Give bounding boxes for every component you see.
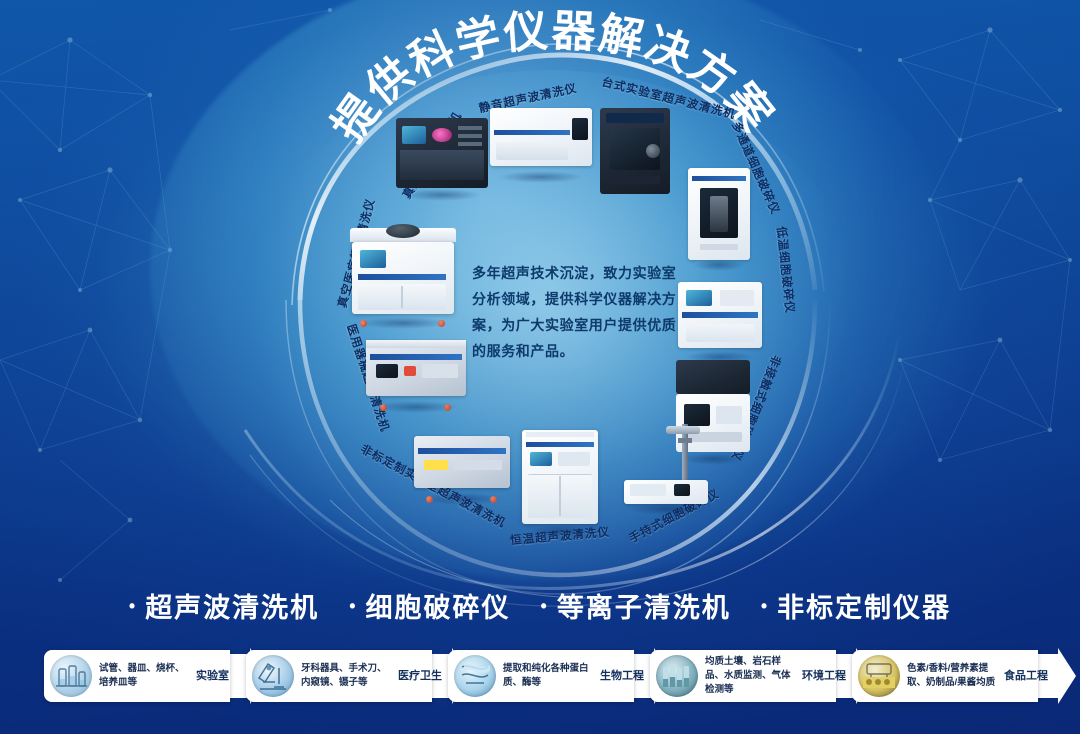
application-chip-bar: 试管、器皿、烧杯、培养皿等 实验室 牙科器具、手术刀、内窥镜、镊子等 医疗卫生 <box>0 648 1080 710</box>
chip-medical-hygiene: 牙科器具、手术刀、内窥镜、镊子等 医疗卫生 <box>246 648 478 704</box>
chip-description: 牙科器具、手术刀、内窥镜、镊子等 <box>294 662 398 690</box>
bullet-dot-icon: • <box>129 597 137 615</box>
lab-glassware-thumbnail-icon <box>50 655 92 697</box>
product-image-custom-lab-ultrasonic-cleaner <box>414 436 510 498</box>
bullet-item-plasma-cleaner: • 等离子清洗机 <box>541 586 731 625</box>
bullet-item-ultrasonic-cleaner: • 超声波清洗机 <box>129 586 319 625</box>
product-image-handheld-cell-disruptor <box>620 424 716 508</box>
product-image-low-temp-cell-disruptor <box>678 282 762 356</box>
product-image-vacuum-medical-ultrasonic-cleaner <box>350 228 456 322</box>
bullet-label: 细胞破碎仪 <box>366 586 511 625</box>
poster-canvas: 提供科学仪器解决方案 真空等离子清洗机 静音超声波清洗仪 台式实验室超声波清洗机… <box>0 0 1080 734</box>
product-image-multichannel-cell-disruptor <box>688 168 750 264</box>
product-image-medical-device-ultrasonic-cleaner <box>366 340 466 406</box>
chip-plate: 提取和纯化各种蛋白质、酶等 生物工程 <box>448 650 634 702</box>
sample-bottles-thumbnail-icon <box>656 655 698 697</box>
protein-extraction-thumbnail-icon <box>454 655 496 697</box>
chip-bioengineering: 提取和纯化各种蛋白质、酶等 生物工程 <box>448 648 680 704</box>
bullet-dot-icon: • <box>349 597 357 615</box>
chip-category: 生物工程 <box>600 669 630 683</box>
bullet-label: 等离子清洗机 <box>557 586 731 625</box>
product-image-silent-ultrasonic-cleaner <box>490 108 592 176</box>
center-description: 多年超声技术沉淀，致力实验室分析领域，提供科学仪器解决方案，为广大实验室用户提供… <box>472 260 687 364</box>
product-image-plasma-cleaner <box>396 112 488 194</box>
bullet-dot-icon: • <box>761 597 769 615</box>
chip-description: 提取和纯化各种蛋白质、酶等 <box>496 662 600 690</box>
chip-laboratory: 试管、器皿、烧杯、培养皿等 实验室 <box>44 648 276 704</box>
chip-category: 实验室 <box>196 669 226 683</box>
bullet-label: 非标定制仪器 <box>777 586 951 625</box>
product-image-constant-temp-ultrasonic-cleaner <box>522 430 598 530</box>
food-production-thumbnail-icon <box>858 655 900 697</box>
bullet-label: 超声波清洗机 <box>145 586 319 625</box>
chip-plate: 均质土壤、岩石样品、水质监测、气体检测等 环境工程 <box>650 650 836 702</box>
chip-category: 食品工程 <box>1004 669 1034 683</box>
product-category-bullets: • 超声波清洗机 • 细胞破碎仪 • 等离子清洗机 • 非标定制仪器 <box>0 586 1080 625</box>
bullet-dot-icon: • <box>541 597 549 615</box>
bullet-item-cell-disruptor: • 细胞破碎仪 <box>349 586 510 625</box>
chip-plate: 试管、器皿、烧杯、培养皿等 实验室 <box>44 650 230 702</box>
chip-description: 均质土壤、岩石样品、水质监测、气体检测等 <box>698 655 802 697</box>
chip-environmental-engineering: 均质土壤、岩石样品、水质监测、气体检测等 环境工程 <box>650 648 882 704</box>
chip-description: 试管、器皿、烧杯、培养皿等 <box>92 662 196 690</box>
chip-food-engineering: 色素/香料/营养素提取、奶制品/果酱均质 食品工程 <box>852 648 1080 704</box>
chip-description: 色素/香料/营养素提取、奶制品/果酱均质 <box>900 662 1004 690</box>
chip-plate: 色素/香料/营养素提取、奶制品/果酱均质 食品工程 <box>852 650 1038 702</box>
chip-plate: 牙科器具、手术刀、内窥镜、镊子等 医疗卫生 <box>246 650 432 702</box>
chip-category: 环境工程 <box>802 669 832 683</box>
microscope-thumbnail-icon <box>252 655 294 697</box>
bullet-item-custom-instruments: • 非标定制仪器 <box>761 586 951 625</box>
chip-category: 医疗卫生 <box>398 669 428 683</box>
